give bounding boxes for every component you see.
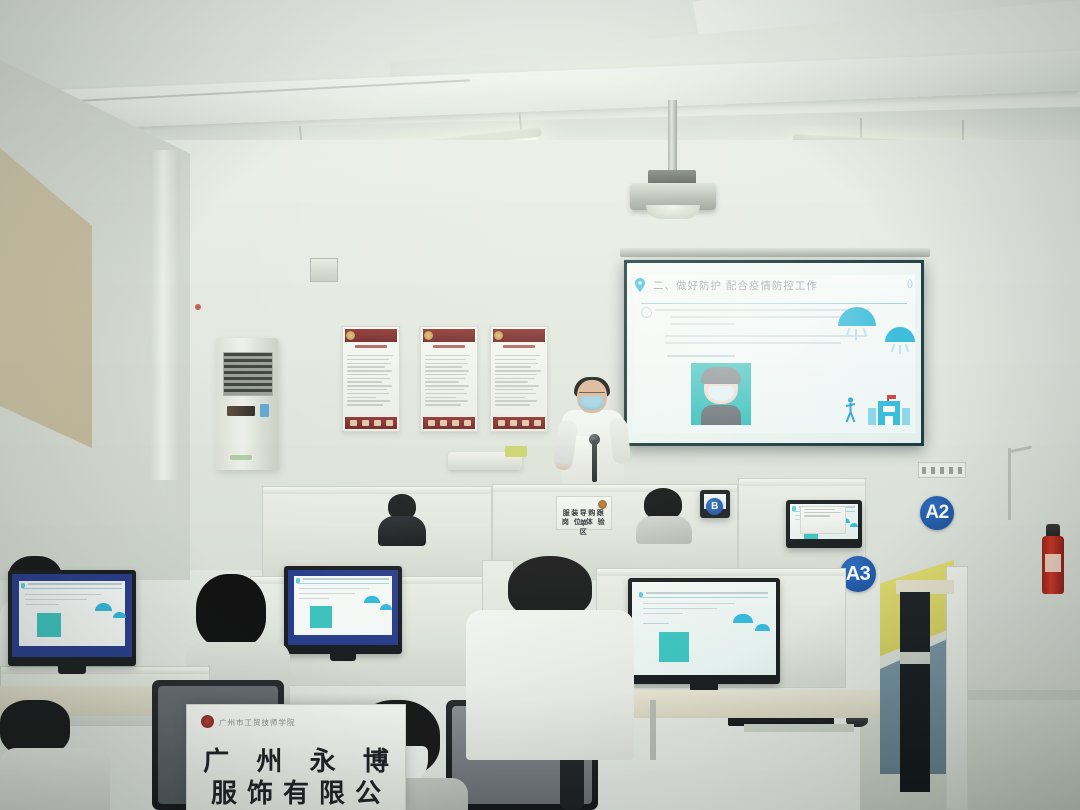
projection-screen[interactable]: 二、做好防护 配合疫情防控工作 () xyxy=(624,260,924,446)
slide-text-line xyxy=(665,335,867,337)
poster-footer xyxy=(345,417,397,429)
school-emblem-icon xyxy=(201,715,214,728)
fire-extinguisher-label xyxy=(1045,554,1061,572)
poster-body xyxy=(347,355,395,413)
wall-poster xyxy=(342,326,400,432)
ac-control-panel[interactable] xyxy=(227,406,255,416)
slide-title: 二、做好防护 配合疫情防控工作 xyxy=(653,278,818,293)
poster-title xyxy=(347,345,395,351)
virus-icon xyxy=(885,327,915,342)
school-emblem-icon xyxy=(346,331,355,340)
building-icon xyxy=(868,395,910,425)
ac-logo xyxy=(230,455,252,460)
floor-standing-air-conditioner xyxy=(216,338,278,470)
wall-poster xyxy=(490,326,548,432)
slide-text-line xyxy=(671,316,857,318)
desktop-computer-tower xyxy=(900,592,930,792)
presenter xyxy=(556,380,630,484)
student-mid-black xyxy=(378,494,426,542)
desk-surface xyxy=(604,690,880,718)
presentation-slide: 二、做好防护 配合疫情防控工作 () xyxy=(633,275,915,433)
sign-organization: 广州市工贸技师学院 xyxy=(219,717,296,728)
cubicle-divider-post xyxy=(946,566,968,810)
wall-poster xyxy=(420,326,478,432)
face-mask-icon xyxy=(579,396,604,410)
projection-screen-roller xyxy=(620,248,930,257)
presenter-arm-right xyxy=(609,417,632,465)
poster-footer xyxy=(493,417,545,429)
ac-grille xyxy=(223,352,273,396)
slide-text-line xyxy=(655,309,870,311)
desk-paper xyxy=(800,506,846,534)
wall-power-socket xyxy=(918,462,966,478)
desk-edge xyxy=(744,724,854,732)
slide-text-line xyxy=(665,342,841,344)
cubicle-station-sign: 服装导购跟单 岗 位 体 验 区 xyxy=(556,496,612,530)
slide-text-line xyxy=(667,355,735,357)
wall-speaker xyxy=(310,258,338,282)
tower-drive-bay xyxy=(900,652,930,664)
computer-monitor[interactable] xyxy=(628,578,780,684)
poster-body xyxy=(425,355,473,413)
slide-text-line xyxy=(671,323,735,325)
wall-column xyxy=(150,150,180,480)
student-back-curly xyxy=(636,488,692,540)
handheld-microphone xyxy=(592,440,597,482)
poster-body xyxy=(495,355,543,413)
wall-indicator-light xyxy=(195,304,201,310)
desk-object xyxy=(505,446,527,457)
school-emblem-icon xyxy=(424,331,433,340)
poster-title xyxy=(425,345,473,351)
location-pin-icon xyxy=(635,278,645,292)
poster-title xyxy=(495,345,543,351)
student-front-white xyxy=(466,556,634,756)
computer-monitor[interactable] xyxy=(8,570,136,666)
masked-student-illustration xyxy=(691,363,751,425)
person-icon xyxy=(844,397,857,423)
projector-bracket xyxy=(648,170,696,184)
fire-extinguisher xyxy=(1042,536,1064,594)
company-name-sign: 广州市工贸技师学院 广 州 永 博 服饰有限公司 xyxy=(186,704,406,810)
ac-label xyxy=(260,404,269,417)
school-emblem-icon xyxy=(494,331,503,340)
desk-leg xyxy=(650,700,656,760)
wall-conduit xyxy=(1008,448,1011,520)
student-front-grey xyxy=(0,700,110,810)
classroom-photo-scene: 二、做好防护 配合疫情防控工作 () xyxy=(0,0,1080,810)
cubicle-sign-line2: 岗 位 体 验 区 xyxy=(561,517,607,537)
slide-bullet-icon xyxy=(641,307,652,318)
slide-badge: () xyxy=(907,278,913,288)
projector-mount-pole xyxy=(668,100,677,174)
projector-lens xyxy=(646,205,700,219)
sign-line2: 服饰有限公司 xyxy=(187,773,405,810)
poster-footer xyxy=(423,417,475,429)
booth-badge-a2: A2 xyxy=(920,496,954,530)
booth-badge-b: B xyxy=(706,498,723,515)
computer-monitor[interactable] xyxy=(284,566,402,654)
